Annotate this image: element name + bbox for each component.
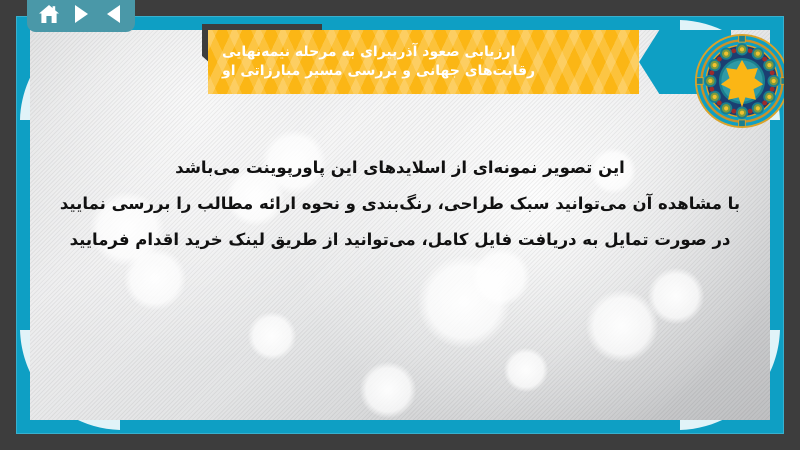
bokeh-circle [586,290,658,362]
title-banner: ارزیابی صعود آذرپیرای به مرحله نیمه‌نهای… [208,30,731,94]
body-line: با مشاهده آن می‌توانید سبک طراحی، رنگ‌بن… [52,186,748,222]
prev-slide-button[interactable] [100,1,126,27]
bokeh-circle [648,268,704,324]
slide-viewer: این تصویر نمونه‌ای از اسلایدهای این پاور… [0,0,800,450]
triangle-right-icon [75,5,88,23]
next-slide-button[interactable] [68,1,94,27]
title-line-1: ارزیابی صعود آذرپیرای به مرحله نیمه‌نهای… [222,43,515,62]
home-icon [38,4,60,24]
banner-gold-strip: ارزیابی صعود آذرپیرای به مرحله نیمه‌نهای… [208,30,639,94]
slide-body-text: این تصویر نمونه‌ای از اسلایدهای این پاور… [52,150,748,258]
title-line-2: رقابت‌های جهانی و بررسی مسیر مبارزاتی او [222,62,535,81]
body-line: این تصویر نمونه‌ای از اسلایدهای این پاور… [52,150,748,186]
bokeh-circle [418,256,510,348]
bokeh-circle [248,312,296,360]
bokeh-circle [360,362,416,418]
slide-canvas: این تصویر نمونه‌ای از اسلایدهای این پاور… [16,16,784,434]
home-button[interactable] [36,1,62,27]
triangle-left-icon [107,5,120,23]
slide-navigation-bar[interactable] [27,0,135,32]
body-line: در صورت تمایل به دریافت فایل کامل، می‌تو… [52,222,748,258]
banner-arrow-tab [639,30,731,94]
bokeh-circle [504,348,548,392]
